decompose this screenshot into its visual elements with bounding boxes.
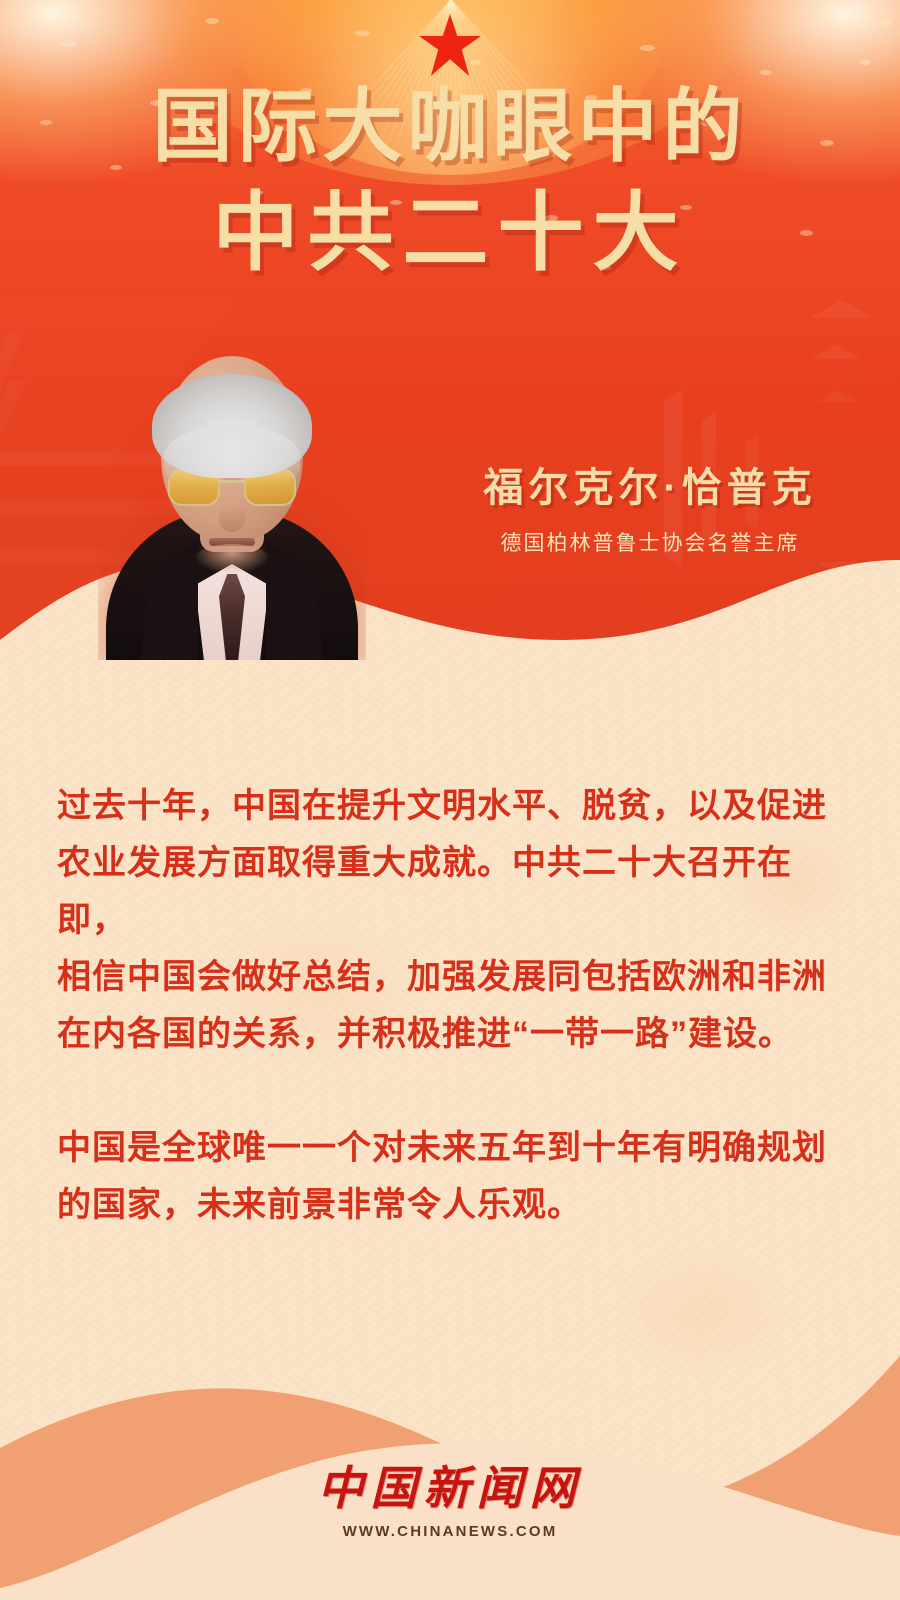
portrait-nose bbox=[219, 504, 245, 532]
chinanews-url: WWW.CHINANEWS.COM bbox=[0, 1523, 900, 1540]
light-speck bbox=[355, 30, 370, 36]
light-speck bbox=[880, 20, 892, 25]
chinanews-logo-text: 中国新闻网 bbox=[0, 1466, 900, 1512]
speaker-name: 福尔克尔·恰普克 bbox=[440, 455, 860, 513]
light-speck bbox=[205, 18, 219, 24]
page-title: 国际大咖眼中的 中共二十大 bbox=[0, 86, 900, 277]
portrait-head bbox=[161, 356, 303, 542]
quote-line-6: 的国家，未来前景非常令人乐观。 bbox=[57, 1177, 843, 1234]
footer-branding: 中国新闻网 WWW.CHINANEWS.COM bbox=[0, 1466, 900, 1540]
poster-root: 国际大咖眼中的 中共二十大 bbox=[0, 0, 900, 1600]
portrait-hair bbox=[152, 374, 312, 478]
light-speck bbox=[60, 40, 76, 47]
light-speck bbox=[470, 60, 481, 65]
quote-line-2: 农业发展方面取得重大成就。中共二十大召开在即， bbox=[57, 835, 843, 949]
quote-body: 过去十年，中国在提升文明水平、脱贫，以及促进 农业发展方面取得重大成就。中共二十… bbox=[57, 778, 843, 1234]
portrait-fade bbox=[98, 590, 366, 660]
speaker-identity: 福尔克尔·恰普克 德国柏林普鲁士协会名誉主席 bbox=[440, 455, 860, 557]
light-speck bbox=[640, 45, 655, 51]
quote-paragraph-gap bbox=[57, 1063, 843, 1120]
quote-line-5: 中国是全球唯一一个对未来五年到十年有明确规划 bbox=[57, 1120, 843, 1177]
light-speck bbox=[760, 70, 772, 75]
quote-line-1: 过去十年，中国在提升文明水平、脱贫，以及促进 bbox=[57, 778, 843, 835]
light-speck bbox=[860, 60, 871, 65]
quote-line-4: 在内各国的关系，并积极推进“一带一路”建设。 bbox=[57, 1006, 843, 1063]
quote-line-3: 相信中国会做好总结，加强发展同包括欧洲和非洲 bbox=[57, 949, 843, 1006]
portrait-chin bbox=[194, 544, 270, 574]
title-line-2: 中共二十大 bbox=[0, 190, 900, 278]
title-line-1: 国际大咖眼中的 bbox=[0, 86, 900, 168]
speaker-role: 德国柏林普鲁士协会名誉主席 bbox=[440, 527, 860, 557]
portrait-photo bbox=[98, 330, 366, 660]
